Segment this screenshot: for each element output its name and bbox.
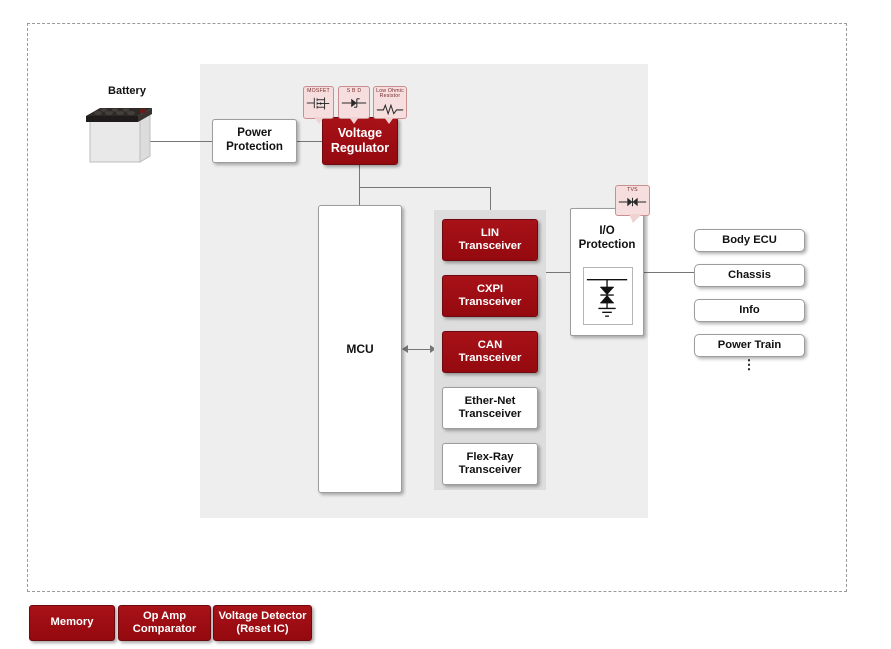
can-transceiver-label: CAN Transceiver: [459, 339, 522, 366]
callout-mosfet[interactable]: MOSFET: [303, 86, 334, 119]
ecu-chassis[interactable]: Chassis: [694, 264, 805, 287]
callout-sbd[interactable]: S B D: [338, 86, 370, 119]
io-protection-block[interactable]: I/O Protection: [570, 208, 644, 336]
ecu-list-more-indicator: ⋮: [694, 358, 805, 371]
legend-voltage-detector[interactable]: Voltage Detector (Reset IC): [213, 605, 312, 641]
tvs-diode-symbol-icon: [616, 193, 649, 211]
line-vreg-branch-to-transceivers: [490, 187, 491, 210]
battery-label: Battery: [82, 85, 172, 97]
can-transceiver-block[interactable]: CAN Transceiver: [442, 331, 538, 373]
cxpi-transceiver-label: CXPI Transceiver: [459, 283, 522, 310]
schottky-diode-symbol-icon: [339, 94, 369, 112]
cxpi-transceiver-block[interactable]: CXPI Transceiver: [442, 275, 538, 317]
power-protection-label: Power Protection: [226, 127, 283, 154]
voltage-regulator-label: Voltage Regulator: [331, 126, 389, 156]
car-battery-icon: [78, 98, 162, 170]
ecu-power-train-label: Power Train: [718, 339, 781, 352]
line-voltage-regulator-down: [359, 165, 360, 205]
legend-memory[interactable]: Memory: [29, 605, 115, 641]
legend-op-amp-comparator-label: Op Amp Comparator: [133, 610, 196, 636]
callout-mosfet-label: MOSFET: [304, 87, 333, 94]
legend-voltage-detector-label: Voltage Detector (Reset IC): [218, 610, 306, 636]
ecu-power-train[interactable]: Power Train: [694, 334, 805, 357]
ecu-body-ecu-label: Body ECU: [722, 234, 777, 247]
lin-transceiver-block[interactable]: LIN Transceiver: [442, 219, 538, 261]
diagram-canvas: Battery Power Protection: [0, 0, 891, 649]
voltage-regulator-block[interactable]: Voltage Regulator: [322, 117, 398, 165]
flexray-transceiver-block[interactable]: Flex-Ray Transceiver: [442, 443, 538, 485]
ethernet-transceiver-block[interactable]: Ether-Net Transceiver: [442, 387, 538, 429]
ecu-info-label: Info: [739, 304, 760, 317]
callout-low-ohmic-resistor[interactable]: Low Ohmic Resistor: [373, 86, 407, 119]
line-vreg-branch-horizontal: [359, 187, 490, 188]
legend-op-amp-comparator[interactable]: Op Amp Comparator: [118, 605, 211, 641]
ecu-body-ecu[interactable]: Body ECU: [694, 229, 805, 252]
line-power-protection-to-voltage-regulator: [297, 141, 322, 142]
ethernet-transceiver-label: Ether-Net Transceiver: [459, 395, 522, 422]
ecu-chassis-label: Chassis: [728, 269, 771, 282]
line-io-protection-to-ecus: [644, 272, 694, 273]
flexray-transceiver-label: Flex-Ray Transceiver: [459, 451, 522, 478]
resistor-symbol-icon: [374, 100, 406, 118]
mcu-block[interactable]: MCU: [318, 205, 402, 493]
ecu-info[interactable]: Info: [694, 299, 805, 322]
tvs-diode-to-ground-icon: [583, 267, 633, 325]
lin-transceiver-label: LIN Transceiver: [459, 227, 522, 254]
io-protection-label: I/O Protection: [571, 225, 643, 253]
legend-memory-label: Memory: [51, 616, 94, 629]
line-transceivers-to-io-protection: [546, 272, 570, 273]
callout-sbd-label: S B D: [339, 87, 369, 94]
power-protection-block[interactable]: Power Protection: [212, 119, 297, 163]
mosfet-symbol-icon: [304, 94, 333, 112]
callout-tvs[interactable]: TVS: [615, 185, 650, 216]
callout-low-ohmic-resistor-label: Low Ohmic Resistor: [374, 87, 406, 100]
callout-tvs-label: TVS: [616, 186, 649, 193]
mcu-label: MCU: [346, 342, 373, 356]
arrow-head-left: [402, 345, 408, 353]
